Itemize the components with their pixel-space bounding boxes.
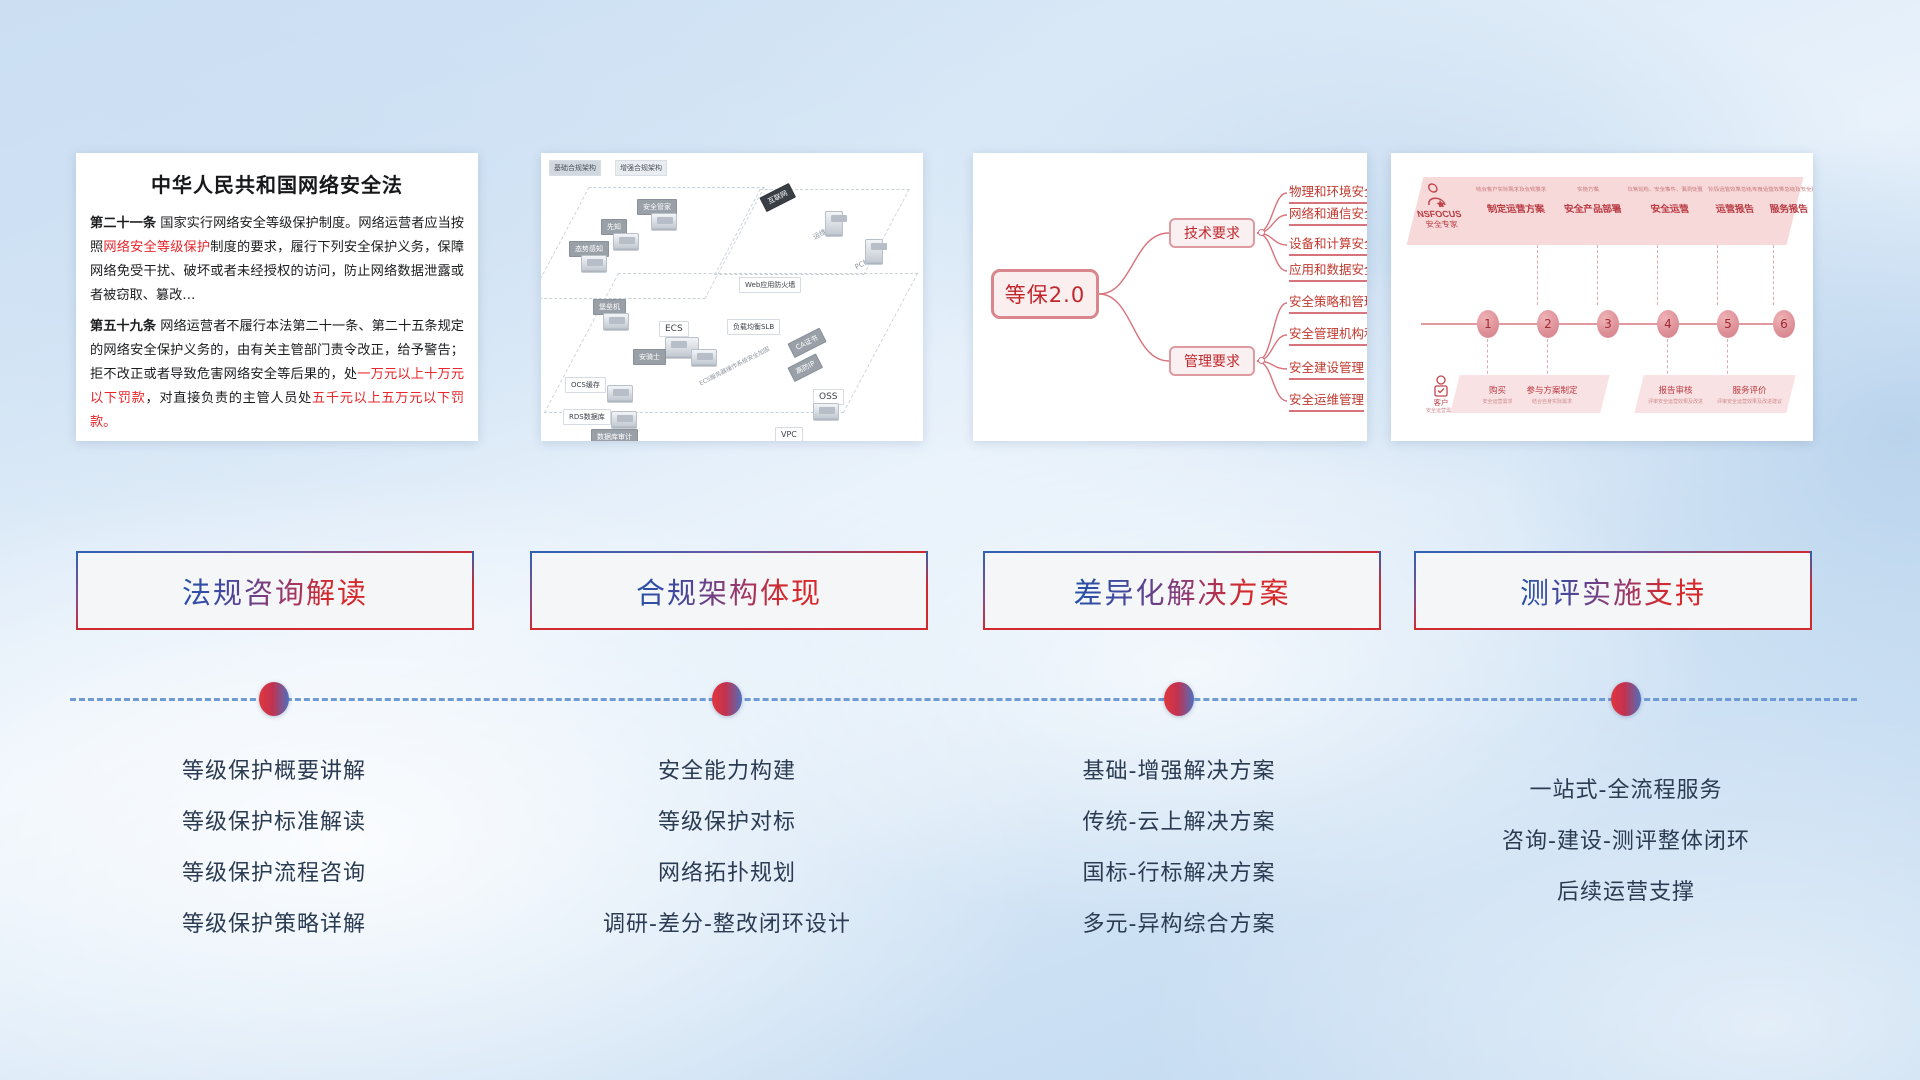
title-box-3-edge-left: [983, 551, 985, 630]
law-paragraph-1: 第二十一条 国家实行网络安全等级保护制度。网络运营者应当按照网络安全等级保护制度…: [90, 212, 464, 308]
nsfocus-tick-down-1: [1487, 339, 1488, 379]
nsfocus-chip-left: 购买 安全运营需求 参与方案制定 结合自身实际需求: [1450, 375, 1609, 413]
nsfocus-node-3[interactable]: 3: [1597, 310, 1619, 338]
title-box-1[interactable]: 法规咨询解读: [76, 551, 474, 630]
timeline-dot-1[interactable]: [259, 682, 289, 716]
nsfocus-chip-2: 参与方案制定 结合自身实际需求: [1527, 384, 1578, 405]
title-box-4[interactable]: 测评实施支持: [1414, 551, 1812, 630]
column-3-item-2: 传统-云上解决方案: [969, 797, 1389, 848]
timeline-dot-2[interactable]: [712, 682, 742, 716]
arch-cube-4: [603, 313, 629, 329]
nsfocus-tick-2: [1597, 245, 1598, 305]
mindmap-leaf-mgmt-1: 安全策略和管理制度: [1289, 291, 1367, 314]
title-box-2-edge-bottom: [530, 628, 928, 630]
nsfocus-chip-3-sub: 评审安全运营效果及改进: [1648, 398, 1703, 405]
law-text-2b: ，对直接负责的主管人员处: [146, 391, 313, 406]
nsfocus-chip-1-title: 购买: [1482, 384, 1512, 396]
arch-cube-5: [691, 349, 717, 365]
arch-cube-10: [865, 239, 883, 263]
mindmap-branch-technical: 技术要求: [1169, 218, 1255, 248]
column-2-item-1: 安全能力构建: [517, 746, 937, 797]
arch-cube-1: [581, 255, 607, 271]
column-3: 基础-增强解决方案 传统-云上解决方案 国标-行标解决方案 多元-异构综合方案: [969, 746, 1389, 950]
column-1-item-3: 等级保护流程咨询: [64, 848, 484, 899]
timeline-dot-4[interactable]: [1611, 682, 1641, 716]
column-4-item-1: 一站式-全流程服务: [1416, 765, 1836, 816]
nsfocus-step-2-sub: 实施方案: [1550, 187, 1628, 194]
nsfocus-brand-block: NSFOCUS 安全专家: [1401, 183, 1475, 230]
arch-cube-8: [813, 403, 839, 419]
mindmap-leaf-tech-2: 网络和通信安全: [1289, 203, 1367, 226]
nsfocus-step-5-sub: 年度运营效果总结及安全建设建议: [1752, 187, 1813, 194]
nsfocus-step-2: 实施方案 安全产品部署: [1550, 187, 1633, 215]
title-box-3-label: 差异化解决方案: [1073, 570, 1290, 612]
column-2-item-2: 等级保护对标: [517, 797, 937, 848]
nsfocus-chip-3: 报告审核 评审安全运营效果及改进: [1648, 384, 1703, 405]
title-box-4-edge-top: [1414, 551, 1812, 553]
mindmap-leaf-tech-1: 物理和环境安全: [1289, 181, 1367, 204]
nsfocus-brand: NSFOCUS: [1407, 209, 1471, 219]
law-article-number-2: 第五十九条: [90, 319, 156, 334]
card-nsfocus-service-timeline: NSFOCUS 安全专家 结合客户实际需求及合规要求 制定运营方案 实施方案 安…: [1391, 153, 1813, 441]
column-3-item-3: 国标-行标解决方案: [969, 848, 1389, 899]
nsfocus-chip-4: 服务评价 评审安全运营效果及改进建议: [1717, 384, 1782, 405]
title-box-1-edge-bottom: [76, 628, 474, 630]
column-1-item-1: 等级保护概要讲解: [64, 746, 484, 797]
nsfocus-node-6[interactable]: 6: [1773, 310, 1795, 338]
title-box-4-edge-left: [1414, 551, 1416, 630]
nsfocus-chip-2-sub: 结合自身实际需求: [1527, 398, 1578, 405]
nsfocus-tick-down-3: [1667, 339, 1668, 379]
nsfocus-step-1-sub: 结合客户实际需求及合规要求: [1468, 187, 1556, 194]
nsfocus-step-2-main: 安全产品部署: [1553, 201, 1632, 215]
nsfocus-step-5-main: 服务报告: [1755, 201, 1813, 215]
customer-person-icon: [1431, 375, 1451, 397]
title-box-2-edge-right: [926, 551, 928, 630]
mindmap-leaf-mgmt-2: 安全管理机构和人员: [1289, 323, 1367, 346]
nsfocus-tick-down-4: [1727, 339, 1728, 379]
nsfocus-tick-5: [1773, 245, 1774, 305]
column-2-item-4: 调研-差分-整改闭环设计: [517, 899, 937, 950]
title-box-2[interactable]: 合规架构体现: [530, 551, 928, 630]
timeline-dot-3[interactable]: [1164, 682, 1194, 716]
title-box-2-edge-left: [530, 551, 532, 630]
title-box-1-label: 法规咨询解读: [182, 570, 368, 612]
title-box-4-edge-right: [1810, 551, 1812, 630]
column-2-item-3: 网络拓扑规划: [517, 848, 937, 899]
mindmap-leaf-mgmt-3: 安全建设管理: [1289, 357, 1364, 380]
title-box-1-edge-right: [472, 551, 474, 630]
title-box-3[interactable]: 差异化解决方案: [983, 551, 1381, 630]
nsfocus-node-4[interactable]: 4: [1657, 310, 1679, 338]
nsfocus-step-1: 结合客户实际需求及合规要求 制定运营方案: [1468, 187, 1561, 215]
mindmap-branch-management: 管理要求: [1169, 346, 1255, 376]
title-box-3-edge-bottom: [983, 628, 1381, 630]
title-box-2-label: 合规架构体现: [636, 570, 822, 612]
column-3-item-4: 多元-异构综合方案: [969, 899, 1389, 950]
title-box-1-edge-left: [76, 551, 78, 630]
column-2: 安全能力构建 等级保护对标 网络拓扑规划 调研-差分-整改闭环设计: [517, 746, 937, 950]
mindmap-leaf-mgmt-4: 安全运维管理: [1289, 389, 1364, 412]
card-mindmap-dengbao: 等保2.0 技术要求 物理和环境安全 网络和通信安全 设备和计算安全 应用和数据…: [973, 153, 1367, 441]
law-paragraph-2: 第五十九条 网络运营者不履行本法第二十一条、第二十五条规定的网络安全保护义务的，…: [90, 315, 464, 435]
column-1-item-2: 等级保护标准解读: [64, 797, 484, 848]
nsfocus-step-5: 年度运营效果总结及安全建设建议 服务报告: [1752, 187, 1813, 215]
column-4: 一站式-全流程服务 咨询-建设-测评整体闭环 后续运营支撑: [1416, 765, 1836, 918]
title-box-3-edge-top: [983, 551, 1381, 553]
timeline-dashed-line: [70, 698, 1857, 701]
column-3-item-1: 基础-增强解决方案: [969, 746, 1389, 797]
card-compliance-architecture: 基础合规架构 增强合规架构 互联网 态势感知 先知 安全管家 堡垒机 ECS 安…: [541, 153, 923, 441]
nsfocus-chip-1: 购买 安全运营需求: [1482, 384, 1512, 405]
arch-node-waf: Web应用防火墙: [739, 277, 801, 293]
arch-cube-9: [825, 211, 843, 235]
nsfocus-step-1-main: 制定运营方案: [1471, 201, 1560, 215]
arch-tab-basic[interactable]: 基础合规架构: [549, 160, 601, 176]
law-highlight-1: 网络安全等级保护: [103, 240, 210, 255]
column-4-item-2: 咨询-建设-测评整体闭环: [1416, 816, 1836, 867]
arch-cube-6: [607, 385, 633, 401]
title-box-2-edge-top: [530, 551, 928, 553]
mindmap-collapse-dot-technical[interactable]: [1258, 229, 1265, 236]
title-box-4-label: 测评实施支持: [1520, 570, 1706, 612]
arch-node-ecs: ECS: [659, 321, 689, 337]
nsfocus-node-2[interactable]: 2: [1537, 310, 1559, 338]
nsfocus-node-5[interactable]: 5: [1717, 310, 1739, 338]
column-4-item-3: 后续运营支撑: [1416, 867, 1836, 918]
nsfocus-tick-3: [1657, 245, 1658, 305]
architecture-diagram: 基础合规架构 增强合规架构 互联网 态势感知 先知 安全管家 堡垒机 ECS 安…: [541, 153, 923, 441]
arch-node-db-audit: 数据库审计: [591, 429, 638, 441]
mindmap-root-node: 等保2.0: [991, 269, 1099, 319]
expert-person-icon: [1421, 183, 1449, 207]
nsfocus-chip-4-title: 服务评价: [1717, 384, 1782, 396]
nsfocus-chip-3-title: 报告审核: [1648, 384, 1703, 396]
law-title: 中华人民共和国网络安全法: [90, 169, 464, 198]
arch-node-vpc: VPC: [775, 427, 803, 441]
mindmap-leaf-tech-4: 应用和数据安全: [1289, 259, 1367, 282]
nsfocus-node-1[interactable]: 1: [1477, 310, 1499, 338]
card-cybersecurity-law: 中华人民共和国网络安全法 第二十一条 国家实行网络安全等级保护制度。网络运营者应…: [76, 153, 478, 441]
title-box-4-edge-bottom: [1414, 628, 1812, 630]
mindmap-collapse-dot-management[interactable]: [1258, 357, 1265, 364]
law-article-number-1: 第二十一条: [90, 216, 156, 231]
mindmap-leaf-tech-3: 设备和计算安全: [1289, 233, 1367, 256]
arch-node-rds: RDS数据库: [563, 409, 611, 425]
column-1-item-4: 等级保护策略详解: [64, 899, 484, 950]
nsfocus-chip-right: 报告审核 评审安全运营效果及改进 服务评价 评审安全运营效果及改进建议: [1634, 375, 1795, 413]
arch-node-anqishi: 安骑士: [633, 349, 666, 365]
arch-cube-3: [651, 213, 677, 229]
column-1: 等级保护概要讲解 等级保护标准解读 等级保护流程咨询 等级保护策略详解: [64, 746, 484, 950]
arch-node-ocs-cache: OCS缓存: [565, 377, 606, 393]
arch-tab-enhanced[interactable]: 增强合规架构: [615, 160, 667, 176]
nsfocus-tick-1: [1537, 245, 1538, 305]
title-box-3-edge-right: [1379, 551, 1381, 630]
arch-cube-7: [611, 411, 637, 427]
nsfocus-chip-1-sub: 安全运营需求: [1482, 398, 1512, 405]
nsfocus-chip-2-title: 参与方案制定: [1527, 384, 1578, 396]
title-box-1-edge-top: [76, 551, 474, 553]
nsfocus-brand-sub: 安全专家: [1410, 219, 1475, 230]
nsfocus-tick-down-2: [1547, 339, 1548, 379]
nsfocus-tick-4: [1717, 245, 1718, 305]
arch-cube-2: [613, 233, 639, 249]
arch-node-slb: 负载均衡SLB: [727, 319, 780, 335]
nsfocus-chip-4-sub: 评审安全运营效果及改进建议: [1717, 398, 1782, 405]
